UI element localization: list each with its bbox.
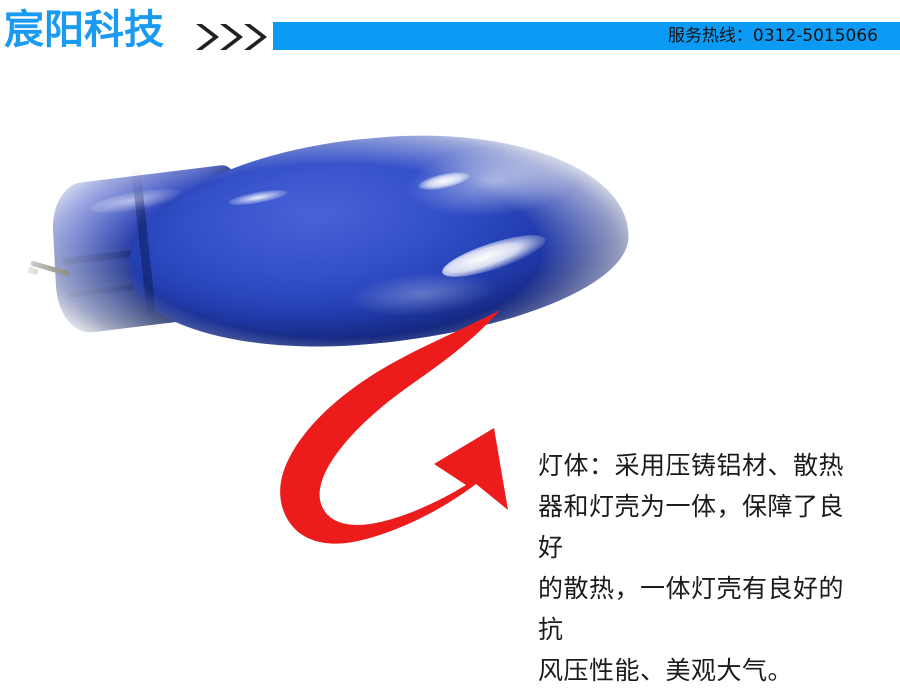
description-line: 器和灯壳为一体，保障了良好 <box>538 486 868 568</box>
chevron-right-icon <box>217 22 243 52</box>
chevron-right-icon <box>193 22 219 52</box>
header-blue-bar: 服务热线：0312-5015066 <box>273 22 900 50</box>
chevron-arrows-group <box>193 22 271 52</box>
brand-logo: 宸阳科技 <box>4 8 164 52</box>
description-line: 的散热，一体灯壳有良好的抗 <box>538 568 868 650</box>
lamp-cable-connector <box>27 267 38 276</box>
service-hotline-text: 服务热线：0312-5015066 <box>668 22 878 50</box>
chevron-right-icon <box>241 22 267 52</box>
description-line: 风压性能、美观大气。 <box>538 650 868 691</box>
product-description-text: 灯体：采用压铸铝材、散热 器和灯壳为一体，保障了良好 的散热，一体灯壳有良好的抗… <box>538 445 868 691</box>
description-line: 灯体：采用压铸铝材、散热 <box>538 445 868 486</box>
curved-arrow-right-icon <box>262 302 532 547</box>
page-header: 宸阳科技 服务热线：0312-5015066 <box>0 0 900 70</box>
slide-root: 宸阳科技 服务热线：0312-5015066 <box>0 0 900 700</box>
